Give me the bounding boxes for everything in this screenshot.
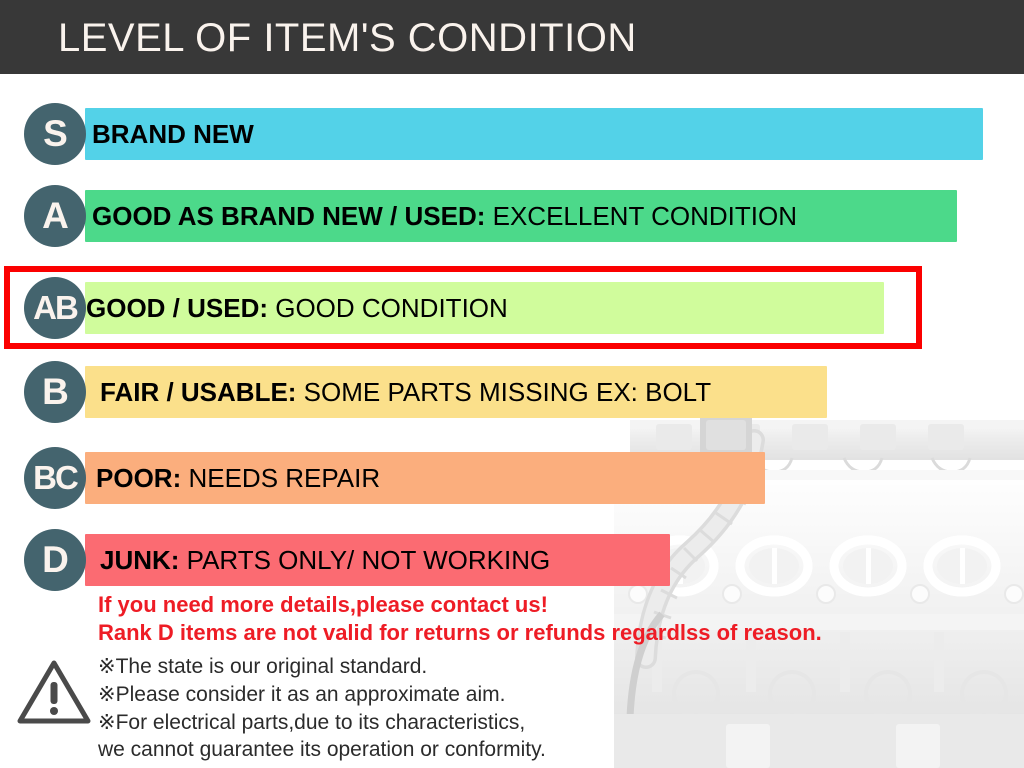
rank-label-b: FAIR / USABLE: SOME PARTS MISSING EX: BO… [100, 377, 711, 408]
rank-badge-label: D [42, 539, 68, 581]
disclaimer-line-2: ※Please consider it as an approximate ai… [98, 682, 505, 707]
rank-label-bold: POOR: [96, 463, 181, 493]
rank-badge-a: A [24, 185, 86, 247]
warning-triangle-icon [16, 658, 92, 726]
rank-label-normal: NEEDS REPAIR [181, 463, 380, 493]
rank-label-d: JUNK: PARTS ONLY/ NOT WORKING [100, 545, 550, 576]
notes-section: If you need more details,please contact … [0, 592, 1024, 768]
rank-badge-label: BC [33, 459, 77, 497]
rank-label-normal: PARTS ONLY/ NOT WORKING [179, 545, 550, 575]
rank-badge-label: A [42, 195, 68, 237]
rank-label-a: GOOD AS BRAND NEW / USED: EXCELLENT COND… [92, 201, 797, 232]
rank-label-bold: BRAND NEW [92, 119, 254, 149]
rank-badge-d: D [24, 529, 86, 591]
rank-badge-s: S [24, 103, 86, 165]
rank-label-bc: POOR: NEEDS REPAIR [96, 463, 380, 494]
rank-label-bold: JUNK: [100, 545, 179, 575]
rank-label-normal: SOME PARTS MISSING EX: BOLT [296, 377, 711, 407]
contact-note-line-1: If you need more details,please contact … [98, 592, 548, 618]
contact-note-line-2: Rank D items are not valid for returns o… [98, 620, 822, 646]
disclaimer-line-3: ※For electrical parts,due to its charact… [98, 710, 525, 735]
rank-label-s: BRAND NEW [92, 119, 254, 150]
rank-badge-label: S [43, 113, 67, 155]
rank-label-normal: EXCELLENT CONDITION [485, 201, 797, 231]
rank-label-bold: GOOD AS BRAND NEW / USED: [92, 201, 485, 231]
rank-badge-label: B [42, 371, 68, 413]
disclaimer-line-1: ※The state is our original standard. [98, 654, 427, 679]
rank-label-bold: FAIR / USABLE: [100, 377, 296, 407]
selected-rank-highlight [4, 266, 922, 349]
condition-level-infographic: LEVEL OF ITEM'S CONDITION S BRAND NEW A … [0, 0, 1024, 768]
rank-badge-b: B [24, 361, 86, 423]
page-title: LEVEL OF ITEM'S CONDITION [58, 16, 637, 61]
rank-badge-bc: BC [24, 447, 86, 509]
disclaimer-line-4: we cannot guarantee its operation or con… [98, 738, 546, 762]
